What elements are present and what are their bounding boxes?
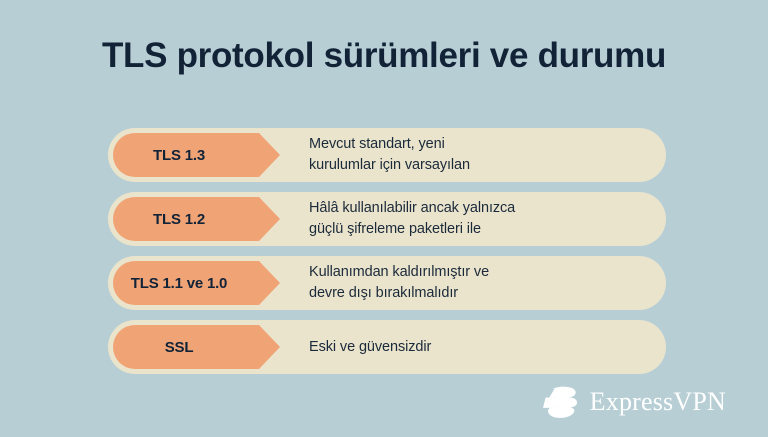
expressvpn-e-mark-icon [542,385,580,419]
version-chip-label: TLS 1.1 ve 1.0 [131,275,241,292]
version-description: Mevcut standart, yeni kurulumlar için va… [259,134,666,175]
version-description: Hâlâ kullanılabilir ancak yalnızca güçlü… [259,198,666,239]
version-chip: SSL [113,325,259,369]
version-chip-label: TLS 1.3 [153,147,219,164]
page-title: TLS protokol sürümleri ve durumu [0,36,768,76]
list-item: SSL Eski ve güvensizdir [108,320,666,374]
list-item: TLS 1.1 ve 1.0 Kullanımdan kaldırılmıştı… [108,256,666,310]
brand-logo: ExpressVPN [542,385,726,419]
list-item: TLS 1.3 Mevcut standart, yeni kurulumlar… [108,128,666,182]
version-chip-label: SSL [165,339,208,356]
tls-version-list: TLS 1.3 Mevcut standart, yeni kurulumlar… [108,128,666,384]
version-chip-label: TLS 1.2 [153,211,219,228]
brand-name: ExpressVPN [590,389,726,415]
version-description: Kullanımdan kaldırılmıştır ve devre dışı… [259,262,666,303]
version-chip: TLS 1.3 [113,133,259,177]
version-description: Eski ve güvensizdir [259,337,666,358]
version-chip: TLS 1.2 [113,197,259,241]
version-chip: TLS 1.1 ve 1.0 [113,261,259,305]
list-item: TLS 1.2 Hâlâ kullanılabilir ancak yalnız… [108,192,666,246]
